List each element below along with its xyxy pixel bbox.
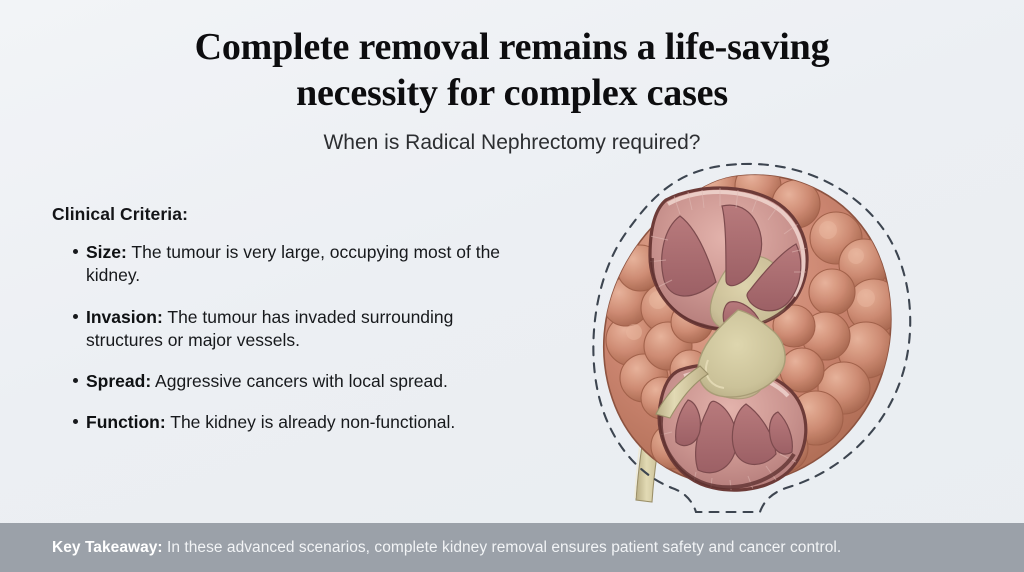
clinical-criteria-block: Clinical Criteria: Size: The tumour is v…	[52, 204, 522, 453]
page-subtitle: When is Radical Nephrectomy required?	[0, 131, 1024, 155]
kidney-tumour-illustration	[588, 160, 918, 520]
bullet-dot-icon	[73, 249, 78, 254]
criteria-label: Spread:	[86, 371, 151, 391]
list-item: Spread: Aggressive cancers with local sp…	[52, 370, 522, 393]
criteria-list: Size: The tumour is very large, occupyin…	[52, 241, 522, 435]
criteria-label: Function:	[86, 412, 166, 432]
criteria-text: The tumour is very large, occupying most…	[86, 242, 500, 285]
criteria-text: Aggressive cancers with local spread.	[151, 371, 448, 391]
bullet-dot-icon	[73, 378, 78, 383]
page-title: Complete removal remains a life-saving n…	[182, 24, 842, 117]
bullet-dot-icon	[73, 314, 78, 319]
slide-header: Complete removal remains a life-saving n…	[0, 24, 1024, 155]
criteria-text: The kidney is already non-functional.	[166, 412, 456, 432]
criteria-heading: Clinical Criteria:	[52, 204, 522, 225]
key-takeaway-body: In these advanced scenarios, complete ki…	[163, 539, 842, 556]
list-item: Invasion: The tumour has invaded surroun…	[52, 306, 522, 353]
kidney-illustration-svg	[588, 160, 918, 520]
list-item: Function: The kidney is already non-func…	[52, 411, 522, 434]
key-takeaway-bar: Key Takeaway: In these advanced scenario…	[0, 523, 1024, 572]
key-takeaway-text: Key Takeaway: In these advanced scenario…	[0, 539, 841, 557]
bullet-dot-icon	[73, 419, 78, 424]
slide-canvas: Complete removal remains a life-saving n…	[0, 0, 1024, 572]
key-takeaway-label: Key Takeaway:	[52, 539, 163, 556]
criteria-label: Size:	[86, 242, 127, 262]
list-item: Size: The tumour is very large, occupyin…	[52, 241, 522, 288]
criteria-label: Invasion:	[86, 307, 163, 327]
